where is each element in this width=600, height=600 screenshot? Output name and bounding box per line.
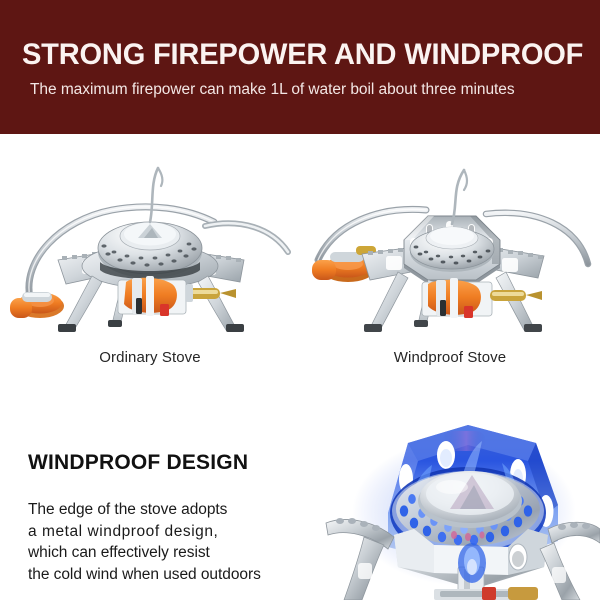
body-line-3: which can effectively resist <box>28 542 318 564</box>
header-banner: STRONG FIREPOWER AND WINDPROOF The maxim… <box>0 0 600 134</box>
burning-stove-photo <box>322 417 600 600</box>
ordinary-stove-cell: Ordinary Stove <box>0 134 300 396</box>
banner-subtitle: The maximum firepower can make 1L of wat… <box>30 80 590 100</box>
banner-title: STRONG FIREPOWER AND WINDPROOF <box>22 38 574 72</box>
ordinary-stove-image <box>0 148 300 338</box>
windproof-stove-caption: Windproof Stove <box>300 349 600 366</box>
windproof-stove-image <box>300 148 600 338</box>
ordinary-stove-caption: Ordinary Stove <box>0 349 300 366</box>
product-infographic: STRONG FIREPOWER AND WINDPROOF The maxim… <box>0 0 600 600</box>
windproof-design-heading: WINDPROOF DESIGN <box>28 451 248 475</box>
body-line-1: The edge of the stove adopts <box>28 499 318 521</box>
windproof-stove-cell: Windproof Stove <box>300 134 600 396</box>
body-line-2: a metal windproof design, <box>28 521 318 543</box>
body-line-4: the cold wind when used outdoors <box>28 564 318 586</box>
windproof-design-body: The edge of the stove adopts a metal win… <box>28 499 318 585</box>
stove-comparison-section: Ordinary Stove <box>0 134 600 396</box>
